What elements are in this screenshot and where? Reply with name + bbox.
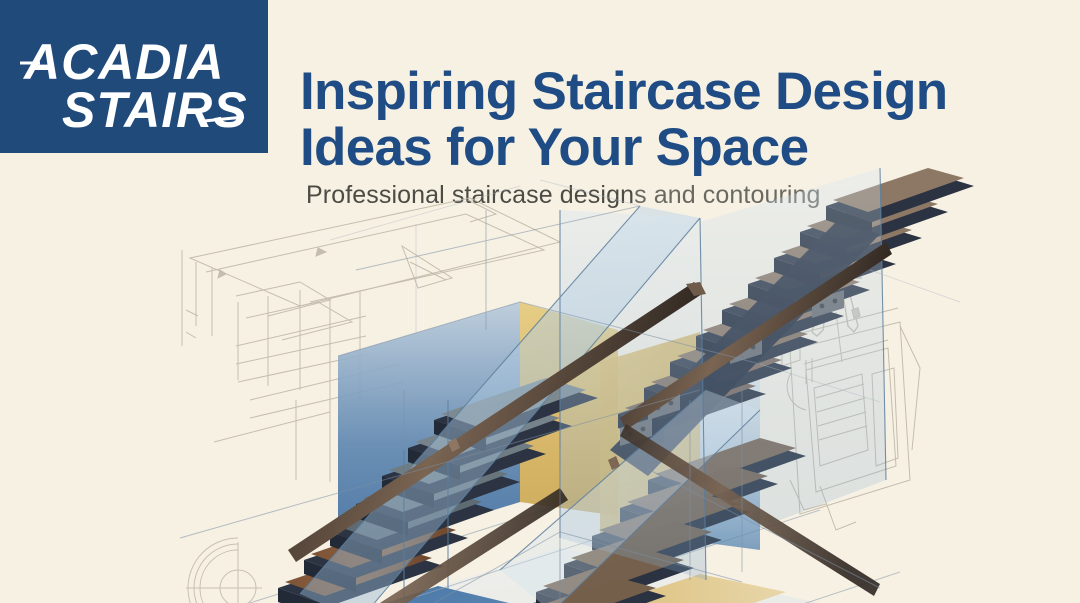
hero-illustration	[0, 150, 1080, 603]
brand-wordmark-logo: ACADIA STAIRS	[18, 17, 250, 137]
brand-logo-block[interactable]: ACADIA STAIRS	[0, 0, 268, 153]
staircase-illustration-svg	[0, 150, 1080, 603]
logo-text-stairs: STAIRS	[62, 82, 248, 137]
banner-root: ACADIA STAIRS Inspiring Staircase Design…	[0, 0, 1080, 603]
radial-dimension-circles	[186, 538, 262, 603]
page-title-line-1: Inspiring Staircase Design	[300, 64, 1010, 121]
